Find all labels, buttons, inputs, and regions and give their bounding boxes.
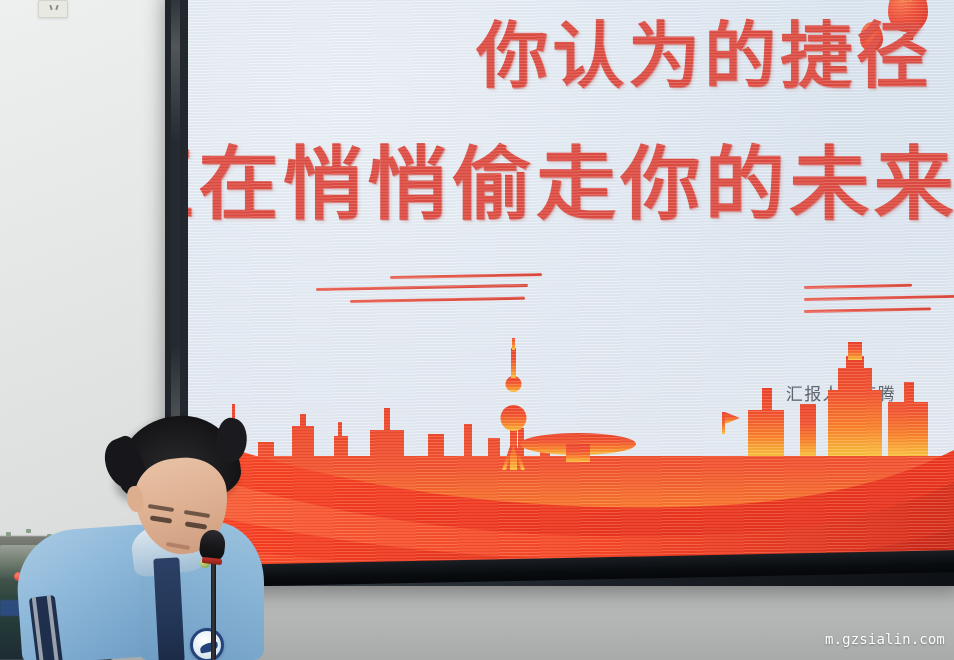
site-watermark: m.gzsialin.com bbox=[825, 632, 945, 648]
wall-power-socket-icon bbox=[38, 0, 68, 18]
rule-line bbox=[804, 307, 931, 313]
school-crest-badge bbox=[190, 628, 224, 660]
rule-line bbox=[804, 295, 954, 301]
rule-line bbox=[804, 284, 912, 289]
decorative-rules-left bbox=[316, 276, 542, 312]
star-icon: ★ bbox=[897, 0, 915, 5]
photo-scene: ★ ★ 你认为的捷径 正在悄悄偷走你的未来 汇报人：李腾 bbox=[0, 0, 954, 660]
rule-line bbox=[350, 297, 525, 303]
microphone-stand bbox=[211, 548, 216, 660]
rule-line bbox=[390, 273, 542, 279]
student-speaker bbox=[14, 414, 264, 660]
presentation-slide: ★ ★ 你认为的捷径 正在悄悄偷走你的未来 汇报人：李腾 bbox=[188, 0, 954, 568]
decorative-rules-right bbox=[804, 286, 954, 322]
rule-line bbox=[316, 284, 528, 291]
slide-title-line-2: 正在悄悄偷走你的未来 bbox=[188, 144, 954, 224]
mixer-indicator-icon bbox=[6, 532, 11, 536]
slide-footer-artwork bbox=[188, 338, 954, 568]
student-torso bbox=[14, 500, 264, 660]
jacket-placket bbox=[153, 557, 184, 660]
slide-title-line-1: 你认为的捷径 bbox=[476, 20, 932, 92]
